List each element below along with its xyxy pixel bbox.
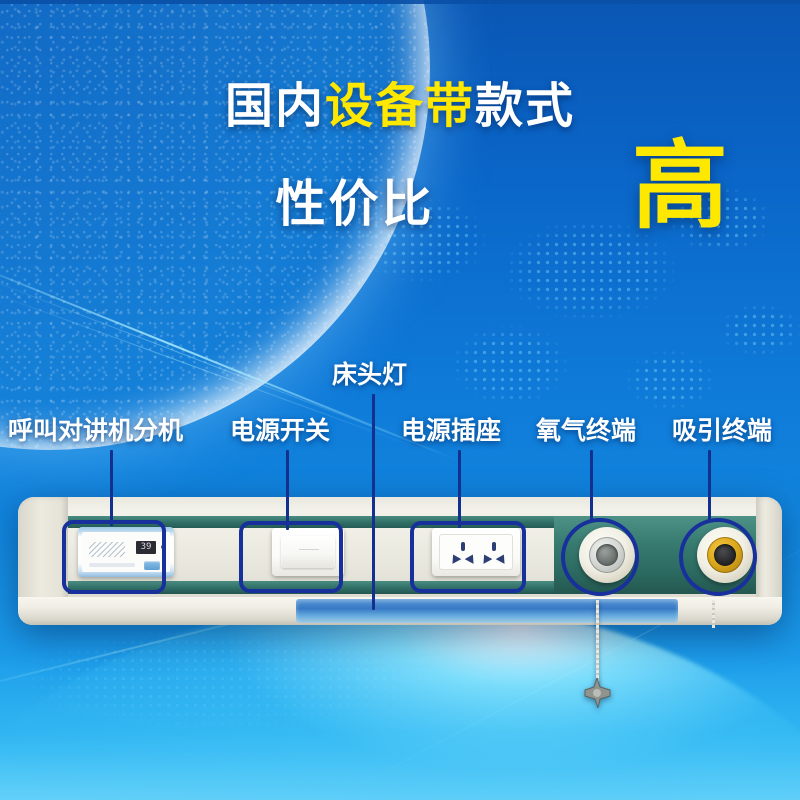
callout-label-power-switch: 电源开关 [230, 418, 330, 443]
leader-line-power-socket [458, 450, 461, 528]
highlight-box-power-switch [239, 521, 343, 593]
callout-layer: 呼叫对讲机分机 电源开关 床头灯 电源插座 氧气终端 吸引终端 [0, 0, 800, 800]
callout-label-power-socket: 电源插座 [401, 418, 501, 443]
leader-line-power-switch [286, 450, 289, 530]
leader-line-bed-lamp [372, 394, 375, 610]
highlight-circle-oxygen [561, 518, 639, 596]
highlight-box-intercom [62, 520, 166, 594]
highlight-circle-suction [679, 518, 757, 596]
leader-line-intercom [110, 450, 113, 526]
callout-label-oxygen: 氧气终端 [536, 418, 636, 443]
promo-banner: 国内设备带款式 性价比 高 呼叫对讲机分机 电源开关 床头灯 电源插座 氧气终端… [0, 0, 800, 800]
leader-line-oxygen [590, 450, 593, 522]
callout-label-bed-lamp: 床头灯 [332, 362, 407, 387]
leader-line-suction [708, 450, 711, 522]
callout-label-intercom: 呼叫对讲机分机 [8, 418, 183, 443]
highlight-box-power-socket [410, 521, 526, 593]
callout-label-suction: 吸引终端 [672, 418, 772, 443]
